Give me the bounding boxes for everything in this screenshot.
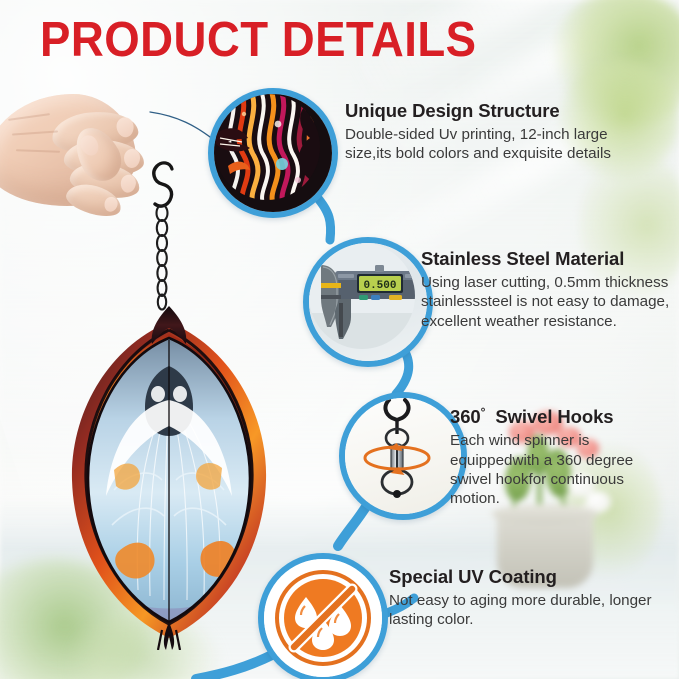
feature-body: Using laser cutting, 0.5mm thickness sta… xyxy=(421,273,671,330)
feature-icon-swivel-hooks[interactable] xyxy=(339,392,467,520)
feature-heading-value: 360 xyxy=(450,406,481,427)
feature-body: Not easy to aging more durable, longer l… xyxy=(389,591,669,629)
uv-print-swatch-icon xyxy=(214,94,320,200)
feature-heading: 360° Swivel Hooks xyxy=(450,406,676,427)
swivel-hook-rotation-icon xyxy=(345,398,449,502)
wind-spinner-product xyxy=(54,300,284,650)
infographic-canvas: PRODUCT DETAILS xyxy=(0,0,679,679)
feature-heading-suffix: Swivel Hooks xyxy=(495,406,613,427)
feature-body: Each wind spinner is equippedwith a 360 … xyxy=(450,431,676,508)
feature-text-swivel-hooks: 360° Swivel Hooks Each wind spinner is e… xyxy=(450,406,676,508)
degree-symbol: ° xyxy=(481,405,486,419)
digital-caliper-icon: 0.500 xyxy=(309,243,415,349)
no-water-droplets-icon xyxy=(270,565,376,671)
feature-text-stainless-steel: Stainless Steel Material Using laser cut… xyxy=(421,248,671,331)
caliper-reading: 0.500 xyxy=(363,280,396,292)
feature-body: Double-sided Uv printing, 12-inch large … xyxy=(345,125,645,163)
feature-heading: Unique Design Structure xyxy=(345,100,645,121)
feature-icon-stainless-steel[interactable]: 0.500 xyxy=(303,237,433,367)
hanging-chain xyxy=(146,205,180,315)
feature-heading: Special UV Coating xyxy=(389,566,669,587)
feature-heading: Stainless Steel Material xyxy=(421,248,671,269)
feature-text-uv-coating: Special UV Coating Not easy to aging mor… xyxy=(389,566,669,630)
page-title: PRODUCT DETAILS xyxy=(40,16,477,65)
feature-icon-uv-coating[interactable] xyxy=(258,553,388,679)
feature-text-unique-design: Unique Design Structure Double-sided Uv … xyxy=(345,100,645,164)
feature-icon-unique-design[interactable] xyxy=(208,88,338,218)
